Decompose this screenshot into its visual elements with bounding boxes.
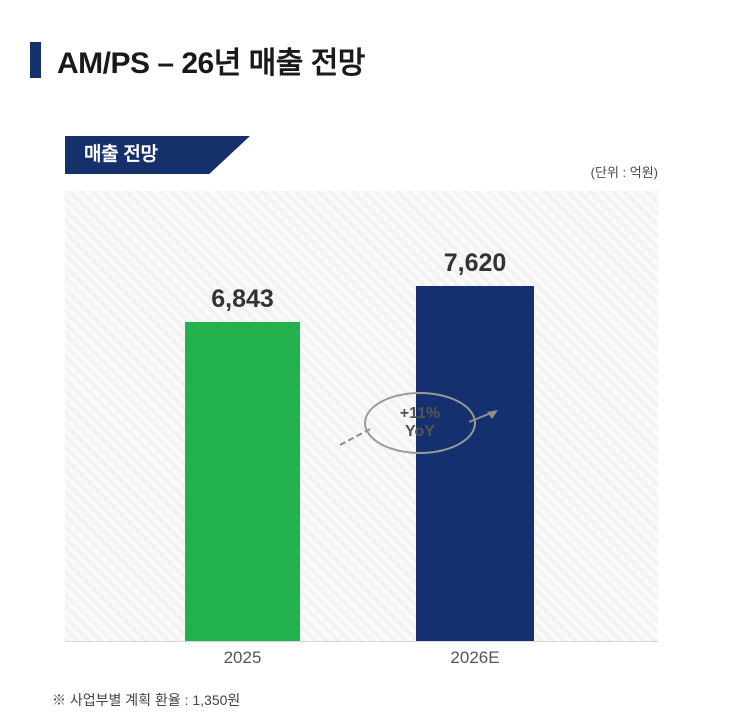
yoy-callout: +11% YoY bbox=[364, 392, 476, 454]
footnote: ※ 사업부별 계획 환율 : 1,350원 bbox=[52, 690, 240, 710]
title-text: AM/PS – 26년 매출 전망 bbox=[57, 38, 365, 82]
axis-baseline bbox=[65, 641, 658, 642]
yoy-label: YoY bbox=[405, 423, 435, 441]
ribbon-label: 매출 전망 bbox=[84, 136, 158, 174]
arrow-right-icon bbox=[469, 408, 499, 428]
yoy-text: +11% YoY bbox=[364, 392, 476, 454]
unit-note: (단위 : 억원) bbox=[591, 162, 658, 181]
yoy-percent: +11% bbox=[400, 405, 440, 423]
bar-2026E bbox=[416, 286, 534, 642]
section-ribbon: 매출 전망 bbox=[65, 136, 250, 174]
title-accent-bar bbox=[30, 42, 41, 78]
bar-value-2025: 6,843 bbox=[185, 285, 300, 314]
page-title: AM/PS – 26년 매출 전망 bbox=[30, 38, 365, 82]
bar-value-2026E: 7,620 bbox=[416, 249, 534, 278]
bar-2025 bbox=[185, 322, 300, 642]
xtick-2025: 2025 bbox=[185, 648, 300, 668]
chart-plot-area: 6,843 7,620 +11% YoY bbox=[65, 191, 658, 642]
xtick-2026E: 2026E bbox=[416, 648, 534, 668]
